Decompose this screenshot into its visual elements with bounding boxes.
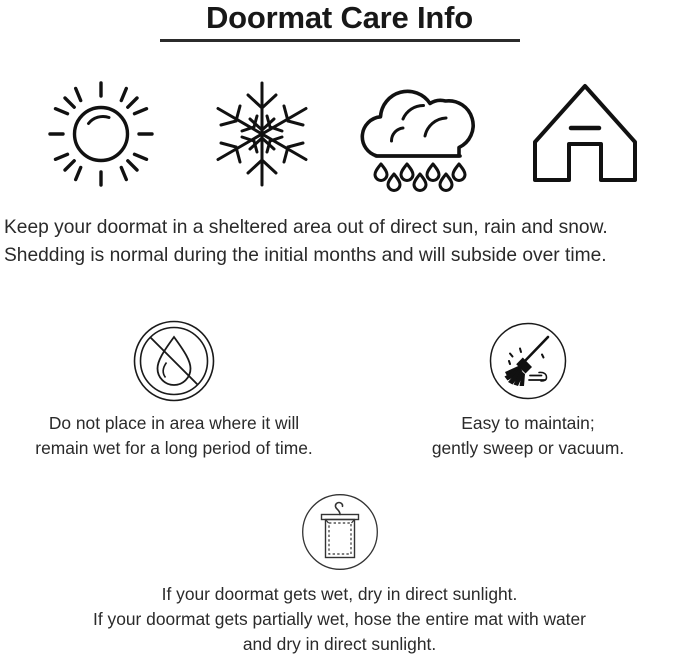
broom-icon <box>489 322 567 400</box>
page-title: Doormat Care Info <box>0 0 679 35</box>
sun-icon <box>46 79 156 189</box>
rain-cloud-icon <box>359 78 481 190</box>
care-caption-drying: If your doormat gets wet, dry in direct … <box>0 582 679 655</box>
intro-line-1: Keep your doormat in a sheltered area ou… <box>4 214 679 242</box>
care-caption-line-2: remain wet for a long period of time. <box>4 436 344 461</box>
sun-icon-slot <box>36 74 166 194</box>
care-caption-line-1: Easy to maintain; <box>388 411 668 436</box>
intro-line-2: Shedding is normal during the initial mo… <box>4 242 679 270</box>
no-water-badge <box>4 320 344 402</box>
care-caption-line-3: and dry in direct sunlight. <box>0 632 679 655</box>
title-underline-divider <box>160 39 520 42</box>
care-item-easy-maintain: Easy to maintain; gently sweep or vacuum… <box>388 320 668 461</box>
house-icon-slot <box>520 74 650 194</box>
care-caption-line-2: gently sweep or vacuum. <box>388 436 668 461</box>
title-block: Doormat Care Info <box>0 0 679 42</box>
weather-icon-row <box>0 74 679 194</box>
care-caption-no-standing-water: Do not place in area where it will remai… <box>4 411 344 461</box>
care-item-no-standing-water: Do not place in area where it will remai… <box>4 320 344 461</box>
doormat-care-info-page: Doormat Care Info <box>0 0 679 655</box>
hang-dry-badge <box>0 492 679 572</box>
care-caption-line-1: Do not place in area where it will <box>4 411 344 436</box>
rain-cloud-icon-slot <box>355 74 485 194</box>
no-water-icon <box>133 320 215 402</box>
care-caption-easy-maintain: Easy to maintain; gently sweep or vacuum… <box>388 411 668 461</box>
snowflake-icon <box>210 79 314 189</box>
care-item-drying: If your doormat gets wet, dry in direct … <box>0 492 679 655</box>
broom-badge <box>388 320 668 402</box>
care-caption-line-1: If your doormat gets wet, dry in direct … <box>0 582 679 607</box>
snowflake-icon-slot <box>197 74 327 194</box>
hang-dry-icon <box>301 493 379 571</box>
care-caption-line-2: If your doormat gets partially wet, hose… <box>0 607 679 632</box>
intro-paragraph: Keep your doormat in a sheltered area ou… <box>0 214 679 270</box>
care-items-row: Do not place in area where it will remai… <box>0 320 679 465</box>
house-icon <box>529 80 641 188</box>
